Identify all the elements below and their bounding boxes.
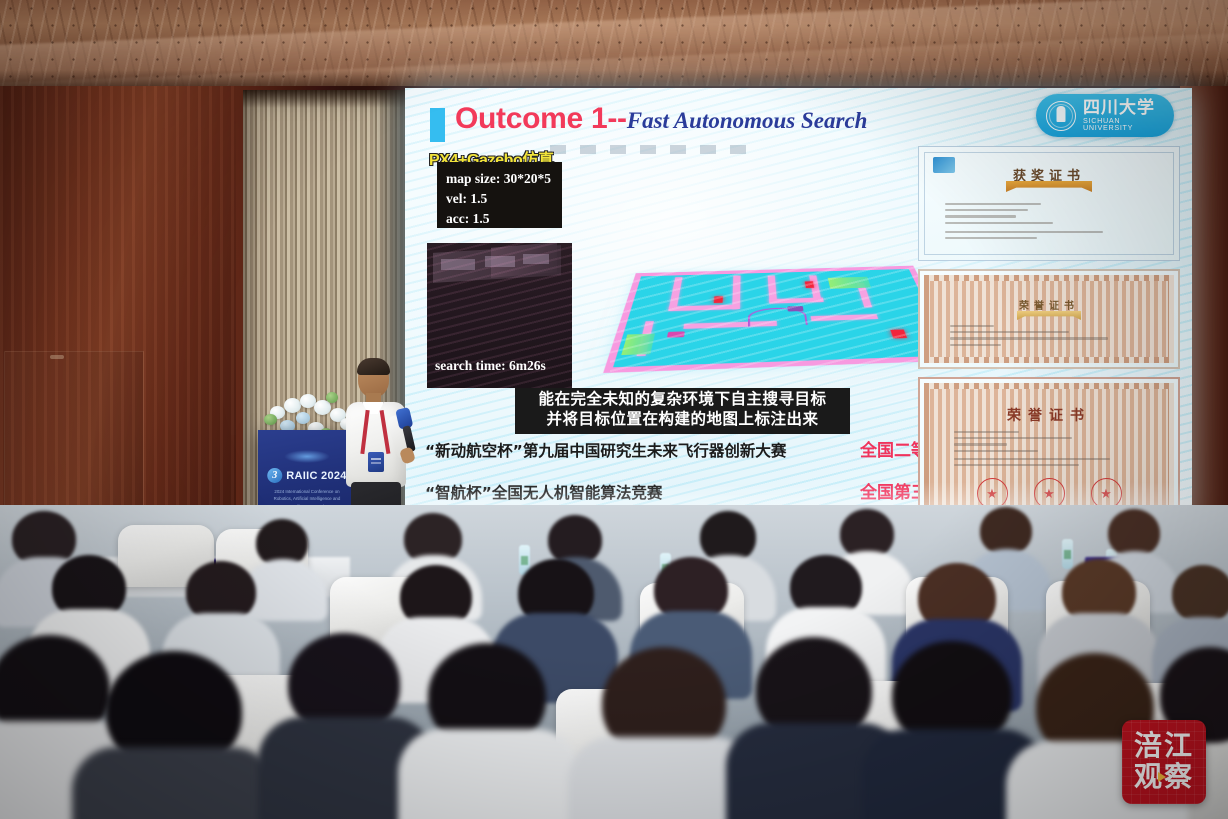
param-acceleration: acc: 1.5	[446, 209, 562, 229]
gazebo-toolbar	[550, 145, 760, 154]
conference-photo-scene: Outcome 1--Fast Autonomous Search PX4+Ga…	[0, 0, 1228, 819]
speaker-name-badge	[368, 452, 384, 472]
certificate-title: 荣誉证书	[920, 405, 1178, 425]
speaker-hair	[357, 358, 390, 375]
map-perspective-body	[598, 265, 966, 377]
slide-title: Outcome 1--Fast Autonomous Search	[455, 104, 867, 134]
title-accent-bar	[430, 108, 445, 142]
podium-subtitle-line-1: 2024 International Conference on	[266, 488, 348, 495]
certificate-award: 获奖证书	[918, 146, 1180, 261]
certificate-text-lines	[950, 325, 1148, 350]
search-video-panel: search time: 6m26s	[427, 243, 572, 388]
simulation-parameters: map size: 30*20*5 vel: 1.5 acc: 1.5	[437, 162, 562, 228]
param-map-size: map size: 30*20*5	[446, 169, 562, 189]
slide-caption: 能在完全未知的复杂环境下自主搜寻目标 并将目标位置在构建的地图上标注出来	[515, 388, 850, 434]
projection-screen: Outcome 1--Fast Autonomous Search PX4+Ga…	[405, 88, 1192, 528]
ceiling	[0, 0, 1228, 96]
award-row: “新动航空杯”第九届中国研究生未来飞行器创新大赛 全国二等奖	[425, 436, 945, 461]
map-target-marker	[805, 281, 814, 288]
map-wall	[732, 276, 740, 310]
university-name-cn: 四川大学	[1083, 99, 1164, 117]
podium-edition-badge: 3	[267, 468, 282, 483]
certificate-text-lines	[945, 203, 1153, 243]
sichuan-university-logo: 四川大学 SICHUAN UNIVERSITY	[1036, 94, 1174, 137]
certificate-title: 荣誉证书	[920, 297, 1178, 312]
certificates-panel: 获奖证书 荣誉证书 荣誉证书	[918, 146, 1180, 528]
university-seal-icon	[1046, 101, 1076, 131]
param-velocity: vel: 1.5	[446, 189, 562, 209]
audience-area	[0, 505, 1228, 819]
certificate-honor: 荣誉证书	[918, 269, 1180, 369]
occupancy-map-3d	[620, 228, 940, 398]
water-bottle	[1062, 539, 1073, 569]
certificate-ribbon-icon	[1006, 181, 1092, 192]
door-handle	[50, 355, 64, 359]
podium-logo-icon	[284, 450, 330, 463]
search-time-label: search time: 6m26s	[435, 358, 546, 374]
award-name: “新动航空杯”第九届中国研究生未来飞行器创新大赛	[425, 439, 786, 461]
podium-event-title: 3 RAIIC 2024	[267, 468, 346, 483]
caption-line-2: 并将目标位置在构建的地图上标注出来	[519, 410, 846, 430]
watermark-text: 涪江 观察	[1122, 720, 1206, 804]
caption-line-1: 能在完全未知的复杂环境下自主搜寻目标	[519, 390, 846, 410]
certificate-text-lines	[954, 431, 1144, 470]
watermark-line-1: 涪江	[1134, 732, 1194, 761]
university-name: 四川大学 SICHUAN UNIVERSITY	[1083, 99, 1164, 132]
university-name-en: SICHUAN UNIVERSITY	[1083, 117, 1164, 132]
certificate-border-ornament	[924, 275, 1174, 363]
wood-wall-panel-left	[0, 86, 236, 576]
watermark-logo: 涪江 观察	[1122, 720, 1206, 804]
slide-title-main: Outcome 1--	[455, 102, 627, 135]
play-triangle-icon	[1158, 772, 1166, 782]
slide-title-sub: Fast Autonomous Search	[627, 108, 868, 133]
